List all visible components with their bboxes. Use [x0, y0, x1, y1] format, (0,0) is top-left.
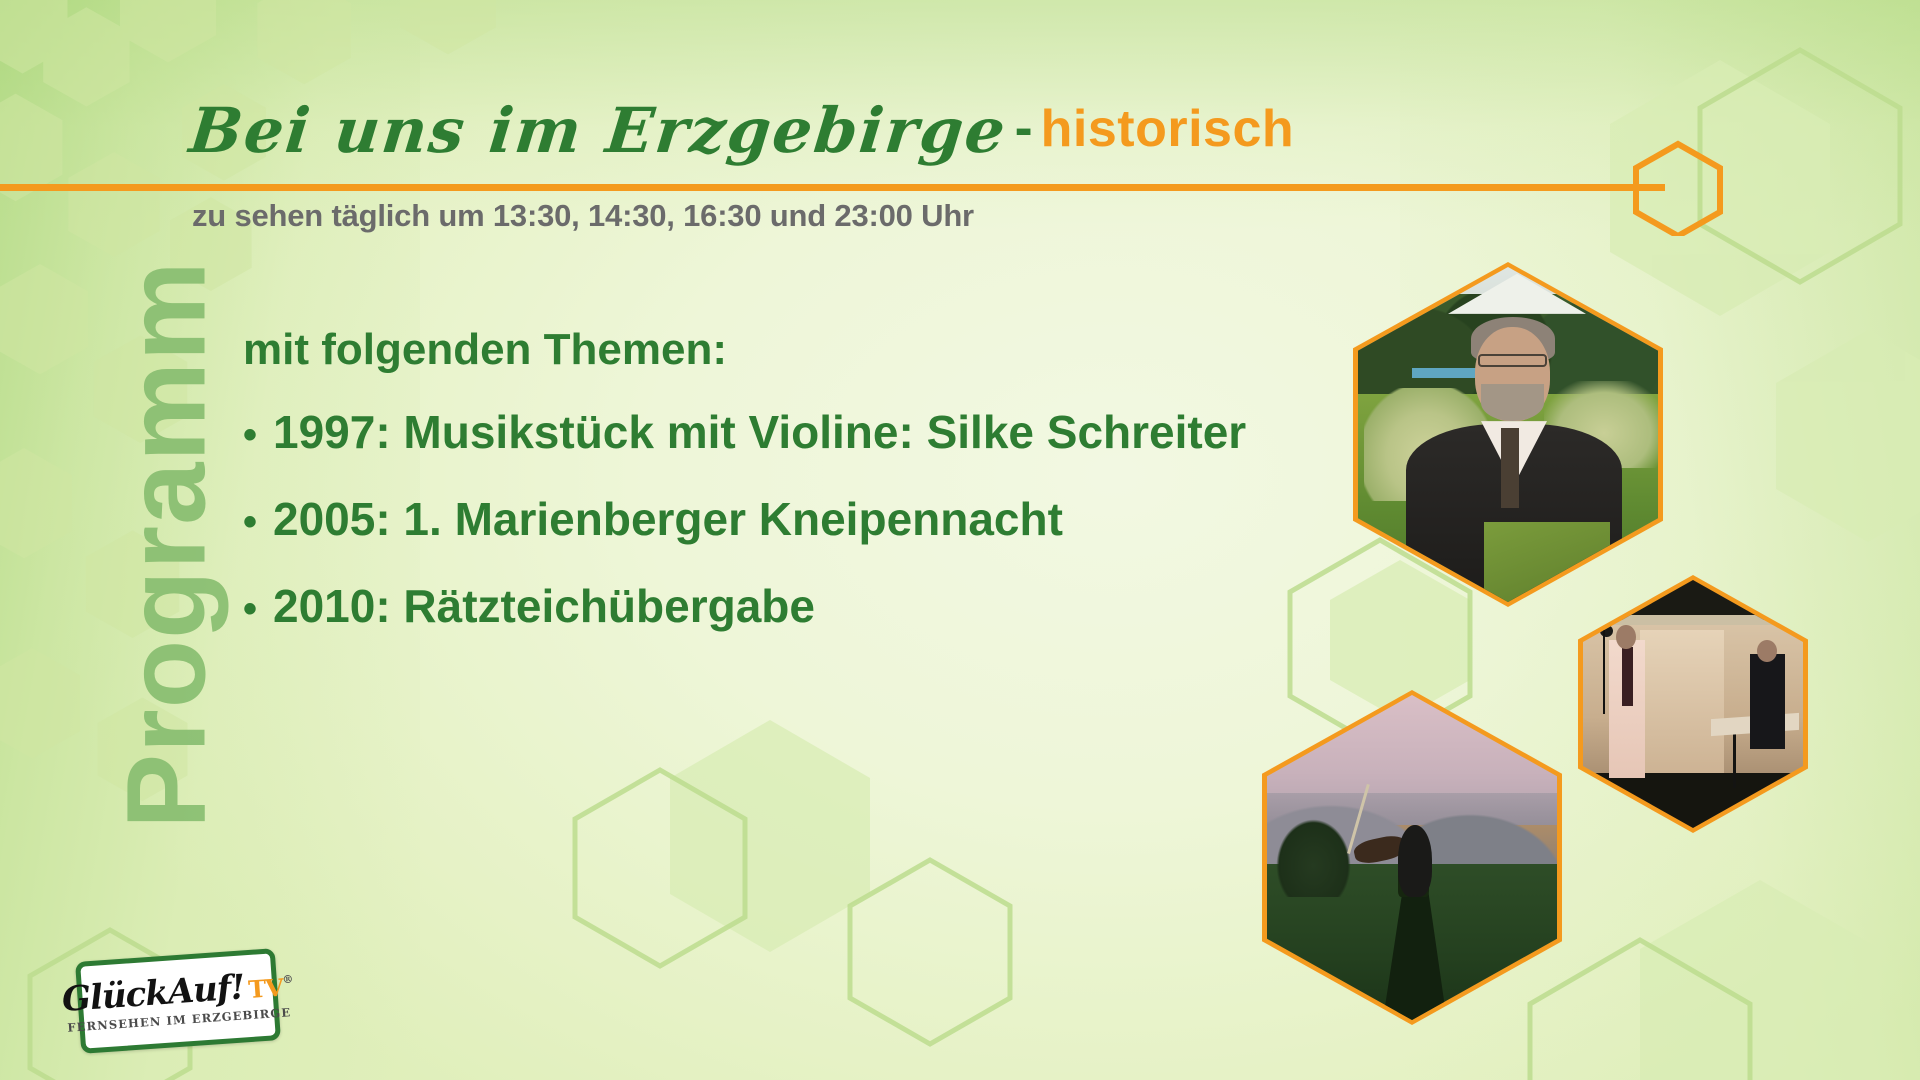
page-title: Bei uns im Erzgebirge-historisch	[190, 100, 1294, 162]
bullet-icon: •	[243, 589, 273, 629]
topic-list: • 1997: Musikstück mit Violine: Silke Sc…	[243, 405, 1246, 633]
title-script-part: Bei uns im Erzgebirge	[187, 100, 1010, 162]
list-item: • 2010: Rätzteichübergabe	[243, 579, 1246, 633]
content-lead: mit folgenden Themen:	[243, 325, 1246, 375]
photo-scene	[1358, 267, 1658, 602]
header-hexagon-icon	[1630, 140, 1726, 236]
photo-hexagon-man-with-folder	[1353, 262, 1663, 607]
list-item: • 2005: 1. Marienberger Kneipennacht	[243, 492, 1246, 546]
broadcast-times-subtitle: zu sehen täglich um 13:30, 14:30, 16:30 …	[192, 198, 974, 234]
bullet-icon: •	[243, 415, 273, 455]
sidebar-vertical-label: Programm	[102, 225, 231, 865]
photo-hexagon-band-on-stage	[1578, 575, 1808, 833]
channel-logo: GlückAuf!TV® FERNSEHEN IM ERZGEBIRGE	[78, 955, 278, 1047]
slide-canvas: Bei uns im Erzgebirge-historisch zu sehe…	[0, 0, 1920, 1080]
logo-registered-mark: ®	[282, 973, 293, 987]
hexagon-photo-clip	[1267, 695, 1557, 1020]
list-item: • 1997: Musikstück mit Violine: Silke Sc…	[243, 405, 1246, 459]
hexagon-photo-clip	[1583, 580, 1803, 828]
main-content: mit folgenden Themen: • 1997: Musikstück…	[243, 325, 1246, 666]
list-item-label: 2010: Rätzteichübergabe	[273, 579, 815, 633]
logo-tv-text: TV	[247, 973, 283, 1004]
header-rule	[0, 184, 1665, 191]
bullet-icon: •	[243, 502, 273, 542]
list-item-label: 1997: Musikstück mit Violine: Silke Schr…	[273, 405, 1246, 459]
hexagon-photo-clip	[1358, 267, 1658, 602]
photo-scene	[1583, 580, 1803, 828]
photo-hexagon-violinist	[1262, 690, 1562, 1025]
list-item-label: 2005: 1. Marienberger Kneipennacht	[273, 492, 1063, 546]
photo-scene	[1267, 695, 1557, 1020]
logo-content: GlückAuf!TV® FERNSEHEN IM ERZGEBIRGE	[75, 948, 281, 1054]
title-accent-part: historisch	[1041, 103, 1295, 155]
title-dash: -	[1007, 101, 1041, 155]
